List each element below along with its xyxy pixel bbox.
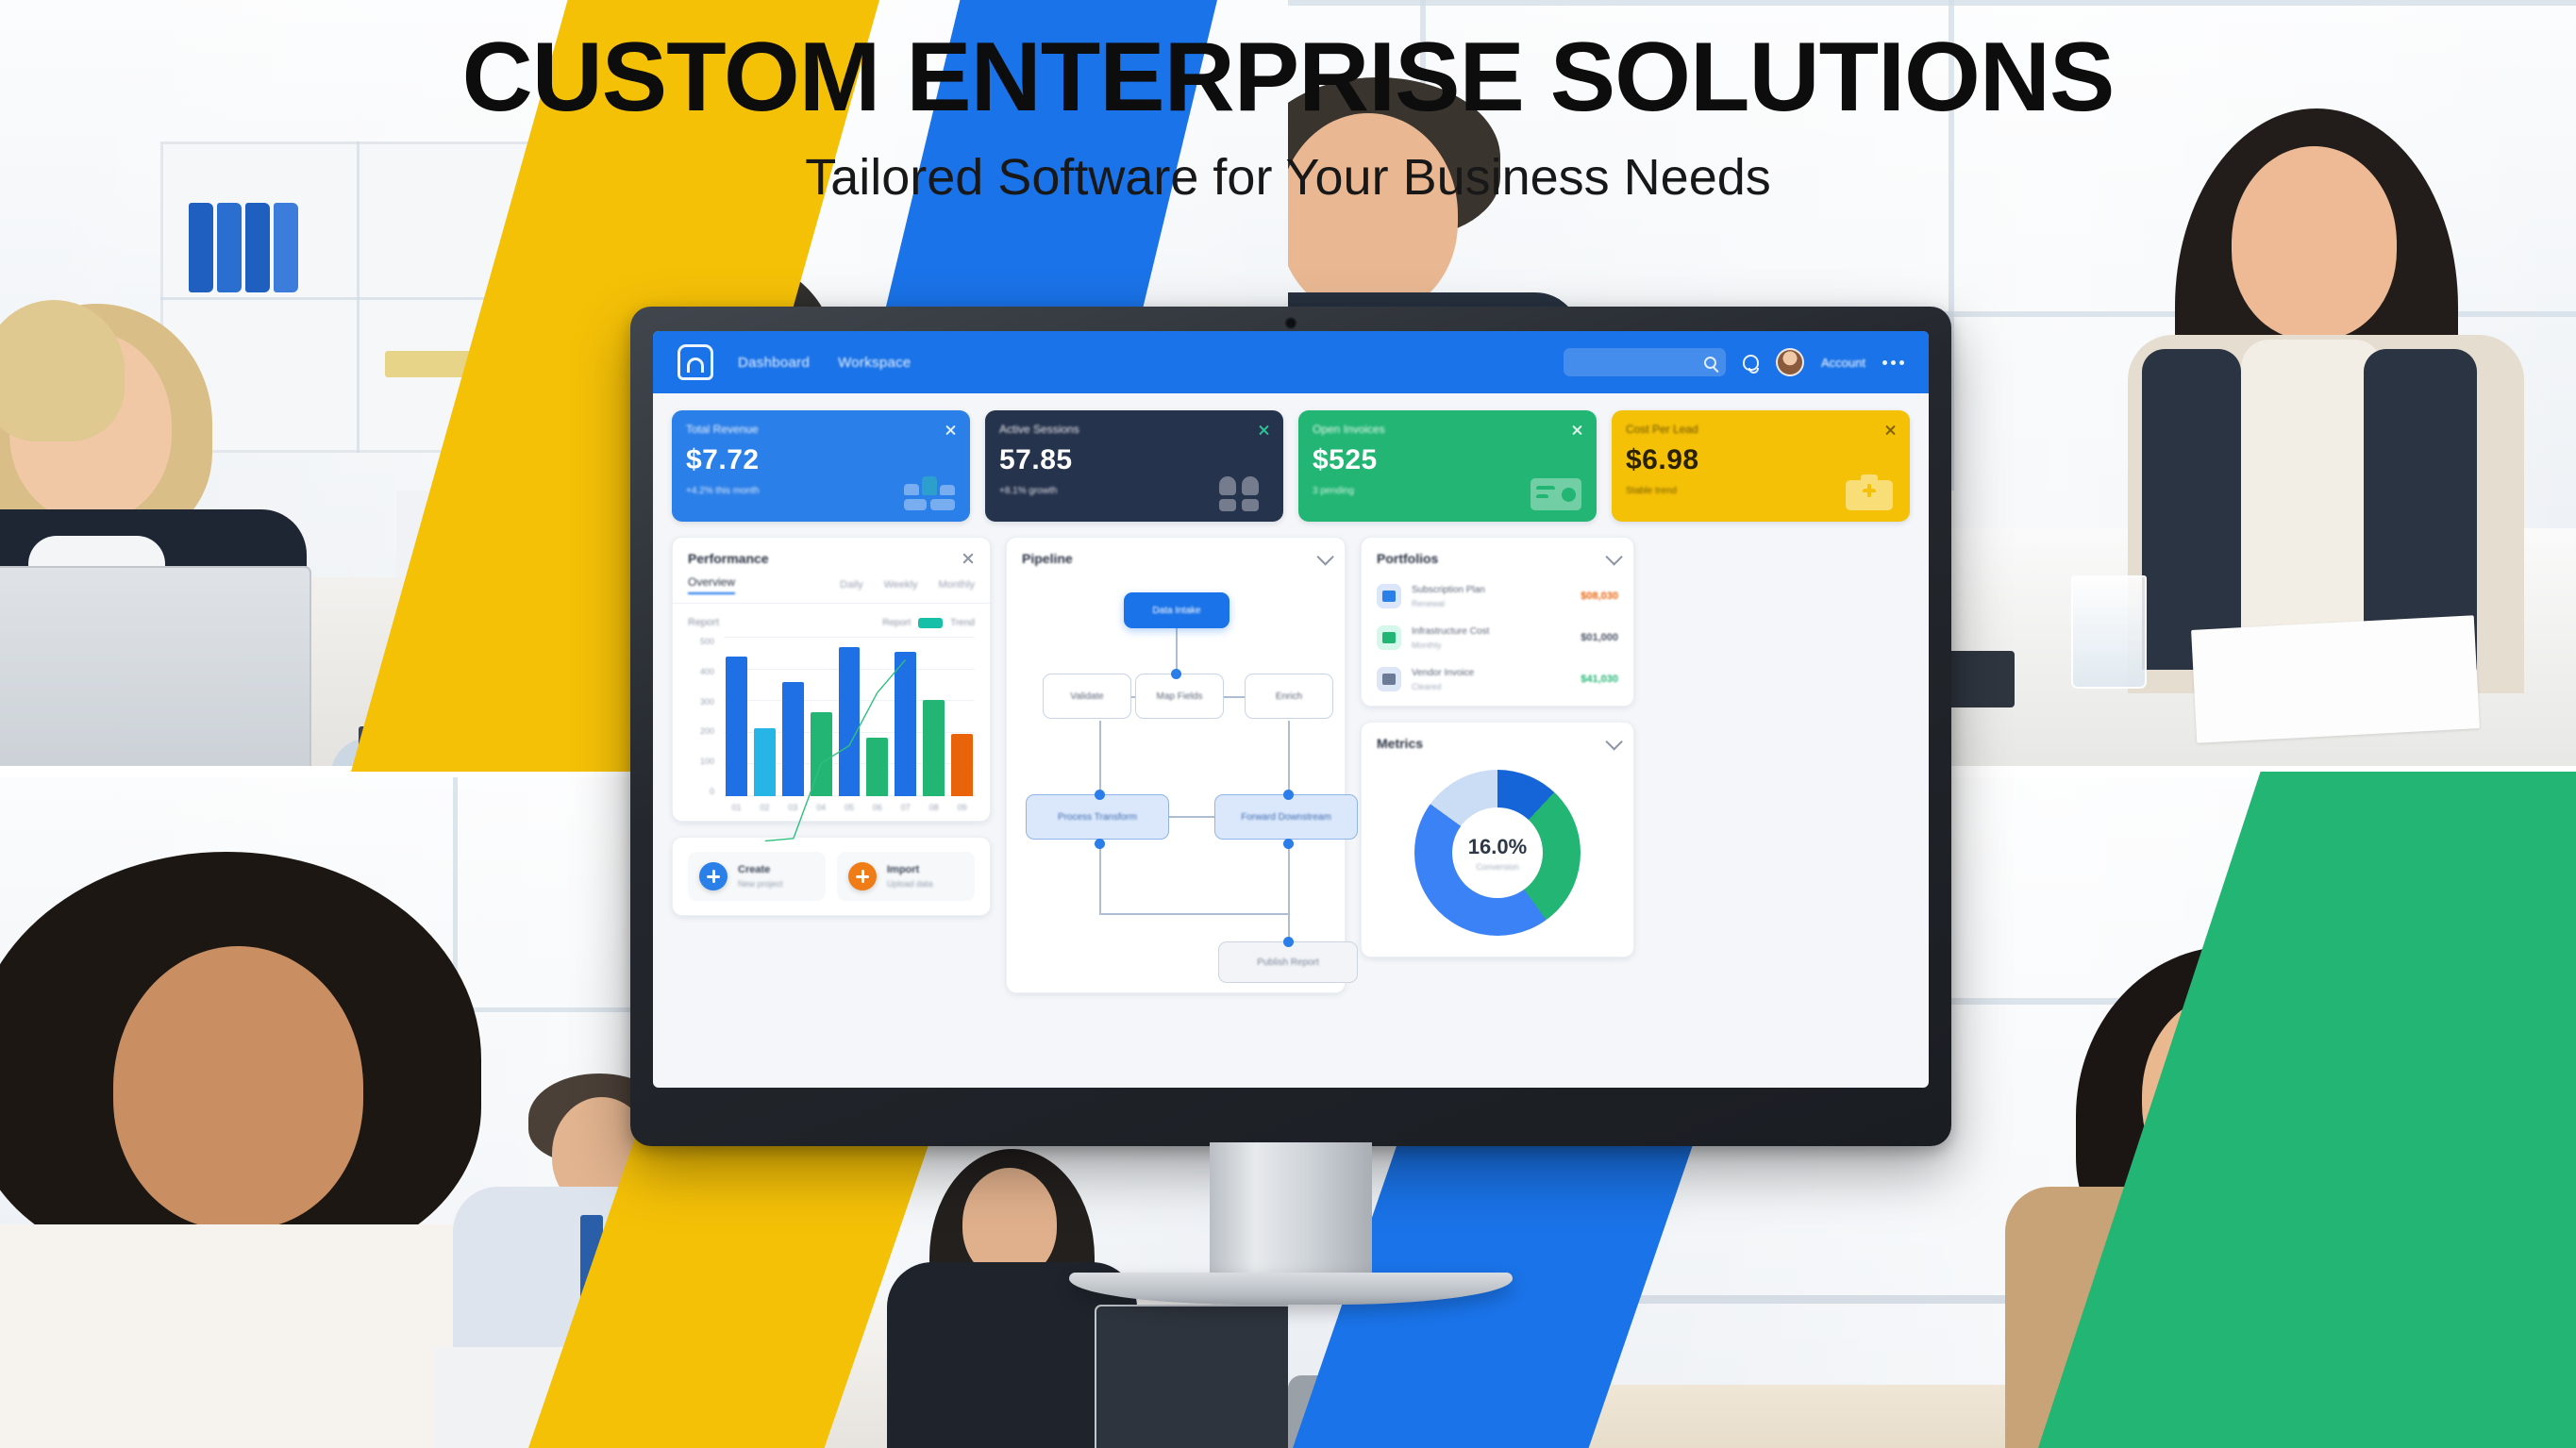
list-item[interactable]: Vendor Invoice Cleared $41,030 (1362, 658, 1633, 706)
stat-card[interactable]: Cost Per Lead $6.98 Stable trend (1612, 410, 1910, 522)
card-icon (1377, 584, 1401, 608)
tab-daily[interactable]: Daily (840, 579, 862, 591)
list-item-title: Subscription Plan (1412, 585, 1570, 595)
flow-node-label: Publish Report (1257, 957, 1319, 968)
card-header: Portfolios (1362, 538, 1633, 575)
legend-entry: Report Trend (882, 618, 975, 628)
bar[interactable] (923, 700, 945, 796)
card-title: Performance (688, 551, 769, 566)
nav-link-workspace[interactable]: Workspace (838, 355, 911, 371)
list-item-sub: Cleared (1412, 682, 1570, 691)
list-item[interactable]: Subscription Plan Renewal $08,030 (1362, 575, 1633, 617)
list-item-amount: $08,030 (1581, 591, 1618, 602)
stat-card-row: Total Revenue $7.72 +4.2% this month (672, 410, 1910, 522)
stat-value: $525 (1313, 444, 1582, 476)
chevron-down-icon[interactable] (1316, 548, 1333, 565)
y-axis-tick: 200 (700, 727, 714, 736)
stat-card[interactable]: Total Revenue $7.72 +4.2% this month (672, 410, 970, 522)
flow-node-label: Forward Downstream (1241, 812, 1331, 823)
flow-node-process[interactable]: Process Transform (1026, 794, 1169, 840)
flow-edge (1288, 721, 1290, 794)
flow-node-publish[interactable]: Publish Report (1218, 941, 1358, 983)
legend-title: Report (688, 617, 719, 628)
bar[interactable] (951, 734, 973, 796)
flow-node-label: Validate (1070, 691, 1103, 702)
flow-edge (1099, 913, 1290, 915)
bar[interactable] (839, 647, 861, 796)
legend-label-left: Report (882, 618, 911, 628)
quick-action-sub: New project (738, 879, 783, 889)
close-icon[interactable] (945, 424, 957, 436)
flow-node-root[interactable]: Data Intake (1124, 592, 1229, 628)
flow-node-label: Data Intake (1152, 606, 1200, 616)
flow-diagram: Data Intake Validate Map Fields Enrich (1020, 577, 1331, 985)
donut-ring: 16.0% Conversion (1414, 770, 1581, 936)
metrics-card: Metrics 16.0% Conversion (1361, 722, 1634, 957)
x-axis: 010203040506070809 (724, 798, 975, 817)
bell-icon[interactable] (1743, 355, 1759, 371)
plot-area (724, 638, 975, 796)
server-icon (1377, 625, 1401, 650)
monitor-bezel: Dashboard Workspace Account (630, 307, 1951, 1146)
x-axis-tick: 08 (923, 803, 945, 812)
tab-bar: Overview Daily Weekly Monthly (673, 575, 990, 604)
card-title: Portfolios (1377, 551, 1438, 566)
tab-monthly[interactable]: Monthly (938, 579, 975, 591)
list-item-amount: $41,030 (1581, 674, 1618, 685)
flow-junction-dot (1283, 839, 1294, 849)
stat-label: Total Revenue (686, 423, 956, 436)
quick-actions-row: Create New project Import Upload data (673, 838, 990, 915)
briefcase-icon (1844, 474, 1897, 510)
bar[interactable] (726, 657, 747, 796)
donut-value: 16.0% (1468, 835, 1527, 859)
quick-action-create[interactable]: Create New project (688, 852, 826, 901)
bar[interactable] (895, 652, 916, 796)
quick-action-import[interactable]: Import Upload data (837, 852, 975, 901)
headline-block: CUSTOM ENTERPRISE SOLUTIONS Tailored Sof… (0, 26, 2576, 207)
x-axis-tick: 01 (726, 803, 747, 812)
receipt-icon (1377, 667, 1401, 691)
x-axis-tick: 03 (782, 803, 804, 812)
stat-value: $7.72 (686, 444, 956, 476)
navbar-right-group: Account (1564, 348, 1904, 376)
quick-action-title: Import (887, 864, 933, 875)
x-axis-tick: 02 (754, 803, 776, 812)
quick-actions-card: Create New project Import Upload data (672, 837, 991, 916)
left-column: Performance Overview Daily Weekly Monthl… (672, 537, 991, 916)
flow-node-label: Process Transform (1058, 812, 1137, 823)
flow-edge (1169, 816, 1214, 818)
card-title: Metrics (1377, 736, 1423, 751)
desktop-monitor: Dashboard Workspace Account (630, 307, 1951, 1165)
chevron-down-icon[interactable] (1605, 733, 1622, 750)
x-axis-tick: 09 (951, 803, 973, 812)
list-item-amount: $01,000 (1581, 632, 1618, 643)
list-item[interactable]: Infrastructure Cost Monthly $01,000 (1362, 617, 1633, 658)
plus-icon (699, 862, 728, 890)
flow-node-validate[interactable]: Validate (1043, 674, 1131, 719)
flow-node-enrich[interactable]: Enrich (1245, 674, 1333, 719)
app-navbar: Dashboard Workspace Account (653, 331, 1929, 393)
legend-series-label: Trend (950, 618, 975, 628)
flow-junction-dot (1095, 839, 1105, 849)
y-axis-tick: 0 (710, 788, 714, 796)
avatar[interactable] (1776, 348, 1804, 376)
search-input[interactable] (1564, 348, 1726, 376)
kebab-menu-icon[interactable] (1882, 360, 1904, 365)
y-axis: 5004003002001000 (688, 638, 720, 796)
x-axis-tick: 06 (866, 803, 888, 812)
stat-label: Cost Per Lead (1626, 423, 1896, 436)
close-icon[interactable] (962, 552, 975, 565)
nav-link-dashboard[interactable]: Dashboard (738, 355, 810, 371)
quick-action-sub: Upload data (887, 879, 933, 889)
users-icon (1217, 474, 1270, 510)
flow-node-forward[interactable]: Forward Downstream (1214, 794, 1358, 840)
stat-value: $6.98 (1626, 444, 1896, 476)
plus-icon (848, 862, 877, 890)
panel-row: Performance Overview Daily Weekly Monthl… (672, 537, 1910, 993)
tab-group: Daily Weekly Monthly (840, 579, 975, 591)
flow-edge (1099, 721, 1101, 794)
quick-action-title: Create (738, 864, 783, 875)
bar[interactable] (782, 682, 804, 796)
dashboard-screen: Dashboard Workspace Account (653, 331, 1929, 1088)
list-item-title: Vendor Invoice (1412, 668, 1570, 678)
nav-links: Dashboard Workspace (738, 355, 912, 371)
y-axis-tick: 500 (700, 638, 714, 646)
flow-junction-dot (1095, 790, 1105, 800)
card-title: Pipeline (1022, 551, 1073, 566)
user-name-label: Account (1821, 356, 1865, 370)
performance-card: Performance Overview Daily Weekly Monthl… (672, 537, 991, 822)
right-column: Portfolios Subscription Plan Renewal (1361, 537, 1634, 957)
flow-node-label: Enrich (1276, 691, 1302, 702)
dashboard-body: Total Revenue $7.72 +4.2% this month (653, 393, 1929, 1012)
tab-weekly[interactable]: Weekly (884, 579, 918, 591)
x-axis-tick: 07 (895, 803, 916, 812)
flow-edge (1288, 843, 1290, 943)
middle-column: Pipeline (1006, 537, 1346, 993)
monitor-neck (1210, 1142, 1372, 1284)
stat-value: 57.85 (999, 444, 1269, 476)
y-axis-tick: 400 (700, 668, 714, 676)
chart-legend: Report Report Trend (673, 604, 990, 632)
legend-swatch (918, 618, 943, 628)
close-icon[interactable] (1258, 424, 1270, 436)
bar-chart: 5004003002001000 010203040506070809 (688, 638, 975, 817)
bar-chart-icon (904, 474, 957, 510)
list-item-sub: Monthly (1412, 641, 1570, 650)
flow-junction-dot (1283, 937, 1294, 947)
y-axis-tick: 300 (700, 698, 714, 707)
bar[interactable] (754, 728, 776, 796)
page-title: CUSTOM ENTERPRISE SOLUTIONS (0, 26, 2576, 129)
donut-chart: 16.0% Conversion (1362, 760, 1633, 957)
flow-junction-dot (1171, 669, 1181, 679)
flow-junction-dot (1283, 790, 1294, 800)
donut-center: 16.0% Conversion (1452, 807, 1543, 898)
pipeline-card: Pipeline (1006, 537, 1346, 993)
close-icon[interactable] (1884, 424, 1897, 436)
shield-home-logo-icon[interactable] (677, 344, 713, 380)
flow-edge (1099, 843, 1101, 915)
portfolios-card: Portfolios Subscription Plan Renewal (1361, 537, 1634, 707)
search-icon (1704, 357, 1716, 369)
stat-card[interactable]: Open Invoices $525 3 pending (1298, 410, 1597, 522)
bar-series (724, 638, 975, 796)
webcam-icon (1285, 317, 1297, 329)
bar[interactable] (811, 712, 832, 796)
card-header: Metrics (1362, 723, 1633, 760)
chevron-down-icon[interactable] (1605, 548, 1622, 565)
x-axis-tick: 04 (811, 803, 832, 812)
list-item-sub: Renewal (1412, 599, 1570, 608)
list-item-title: Infrastructure Cost (1412, 626, 1570, 637)
stat-card[interactable]: Active Sessions 57.85 +8.1% growth (985, 410, 1283, 522)
card-header: Performance (673, 538, 990, 575)
x-axis-tick: 05 (839, 803, 861, 812)
close-icon[interactable] (1571, 424, 1583, 436)
stat-label: Open Invoices (1313, 423, 1582, 436)
donut-caption: Conversion (1476, 862, 1519, 872)
flow-node-map[interactable]: Map Fields (1135, 674, 1224, 719)
flow-node-label: Map Fields (1157, 691, 1203, 702)
y-axis-tick: 100 (700, 757, 714, 766)
bar[interactable] (866, 738, 888, 796)
flow-edge (1176, 628, 1178, 674)
tab-overview[interactable]: Overview (688, 575, 735, 594)
page-subtitle: Tailored Software for Your Business Need… (0, 148, 2576, 207)
stat-label: Active Sessions (999, 423, 1269, 436)
card-header: Pipeline (1007, 538, 1345, 575)
card-icon (1531, 474, 1583, 510)
